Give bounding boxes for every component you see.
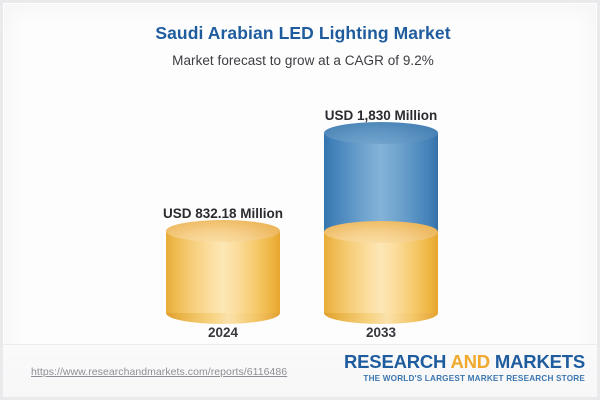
footer: https://www.researchandmarkets.com/repor… [3,344,600,397]
cylinder-2024-top-ellipse [166,220,280,242]
bar-2024-value-label: USD 832.18 Million [163,206,283,221]
chart-card: Saudi Arabian LED Lighting Market Market… [0,0,600,400]
axis-label-2033: 2033 [366,325,396,340]
logo-tagline: THE WORLD'S LARGEST MARKET RESEARCH STOR… [344,374,585,383]
bar-2033-value-label: USD 1,830 Million [325,108,438,123]
axis-label-2024: 2024 [208,325,238,340]
cylinder-2024-side [166,231,280,313]
plot-area: USD 832.18 Million 2024 USD 1,830 Millio… [3,3,600,351]
cylinder-2024-segment-base [166,231,280,313]
cylinder-2033-top-ellipse [324,122,438,144]
logo-wordmark: RESEARCH AND MARKETS [344,351,585,373]
bar-2024[interactable]: USD 832.18 Million 2024 [166,231,280,313]
cylinder-2033-growth-side [324,133,438,232]
research-and-markets-logo[interactable]: RESEARCH AND MARKETS THE WORLD'S LARGEST… [344,351,585,383]
report-url-link[interactable]: https://www.researchandmarkets.com/repor… [31,366,287,378]
chart-canvas: Saudi Arabian LED Lighting Market Market… [3,3,597,397]
cylinder-2033 [324,133,438,313]
cylinder-2024 [166,231,280,313]
cylinder-2033-segment-growth [324,133,438,232]
bar-2033[interactable]: USD 1,830 Million 2033 [324,133,438,313]
cylinder-2033-base-side [324,232,438,313]
logo-word-research: RESEARCH [344,351,446,372]
cylinder-2033-divider-ellipse [324,221,438,243]
logo-word-and: AND [450,351,489,372]
cylinder-2033-segment-base [324,232,438,313]
logo-word-markets: MARKETS [495,351,585,372]
